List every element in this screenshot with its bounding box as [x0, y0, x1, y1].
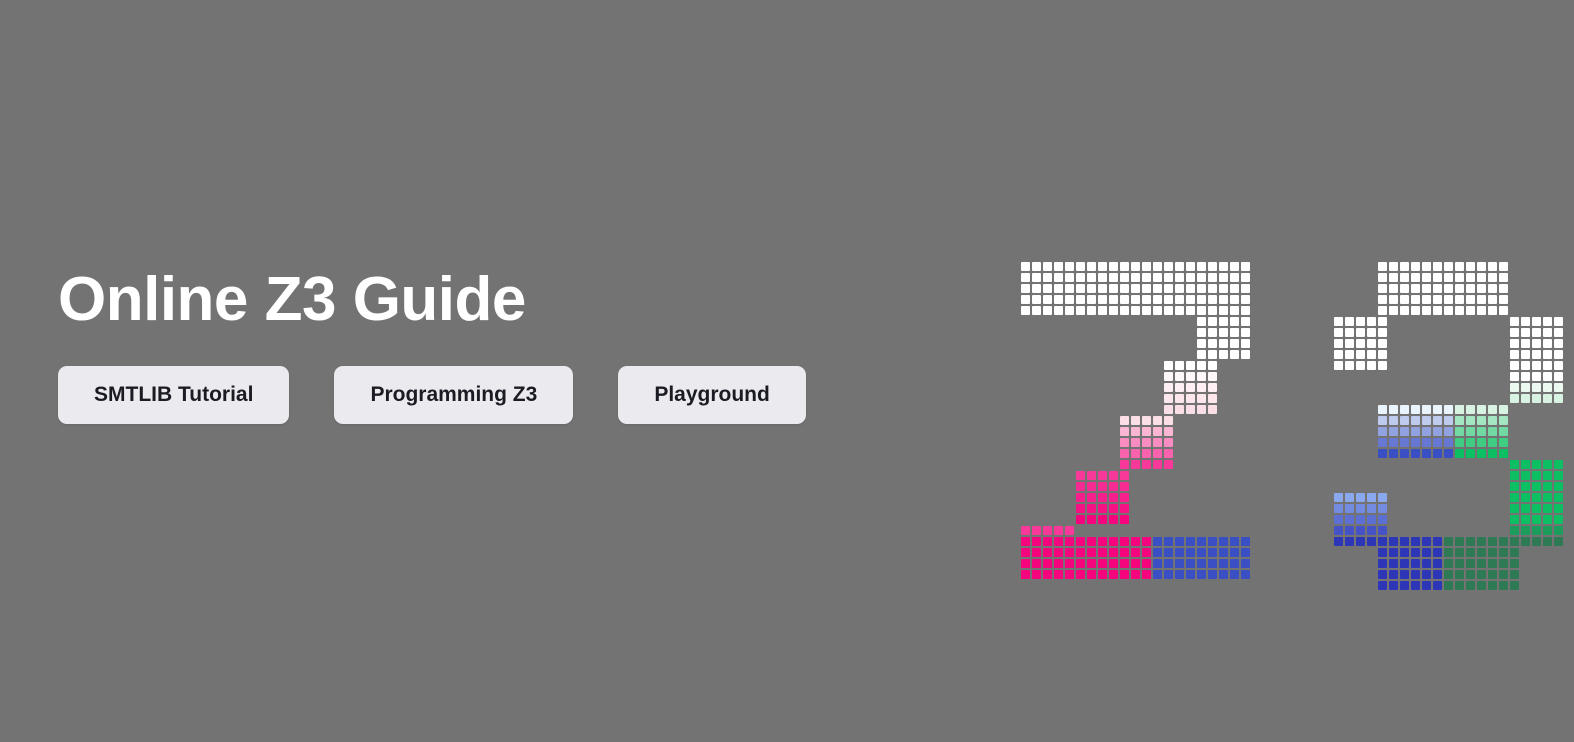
logo-pixel [1422, 581, 1431, 590]
logo-pixel [1087, 482, 1096, 491]
logo-pixel [1367, 526, 1376, 535]
logo-pixel [1241, 570, 1250, 579]
logo-pixel [1065, 559, 1074, 568]
logo-pixel [1131, 427, 1140, 436]
logo-pixel [1345, 537, 1354, 546]
logo-pixel [1208, 372, 1217, 381]
logo-pixel [1153, 559, 1162, 568]
logo-pixel [1532, 350, 1541, 359]
logo-pixel [1032, 537, 1041, 546]
logo-pixel [1543, 383, 1552, 392]
logo-pixel [1499, 570, 1508, 579]
logo-pixel [1378, 306, 1387, 315]
logo-pixel [1219, 570, 1228, 579]
logo-pixel [1230, 350, 1239, 359]
logo-pixel [1087, 515, 1096, 524]
logo-pixel [1230, 570, 1239, 579]
logo-pixel [1466, 306, 1475, 315]
logo-pixel [1477, 416, 1486, 425]
logo-pixel [1109, 570, 1118, 579]
logo-pixel [1433, 295, 1442, 304]
logo-pixel [1131, 559, 1140, 568]
logo-pixel [1032, 526, 1041, 535]
logo-pixel [1142, 570, 1151, 579]
logo-pixel [1510, 526, 1519, 535]
logo-pixel [1510, 559, 1519, 568]
logo-pixel [1142, 438, 1151, 447]
logo-pixel [1378, 581, 1387, 590]
logo-pixel [1087, 262, 1096, 271]
logo-pixel [1499, 427, 1508, 436]
logo-pixel [1378, 350, 1387, 359]
logo-pixel [1219, 262, 1228, 271]
logo-pixel [1422, 449, 1431, 458]
logo-pixel [1455, 427, 1464, 436]
logo-pixel [1109, 273, 1118, 282]
logo-pixel [1098, 482, 1107, 491]
logo-pixel [1345, 350, 1354, 359]
logo-pixel [1521, 361, 1530, 370]
logo-pixel [1164, 559, 1173, 568]
logo-pixel [1378, 559, 1387, 568]
logo-pixel [1499, 548, 1508, 557]
hero-button-row: SMTLIB Tutorial Programming Z3 Playgroun… [58, 366, 806, 424]
logo-pixel [1197, 306, 1206, 315]
logo-pixel [1554, 482, 1563, 491]
logo-pixel [1466, 416, 1475, 425]
logo-pixel [1466, 438, 1475, 447]
logo-pixel [1400, 449, 1409, 458]
logo-pixel [1153, 449, 1162, 458]
logo-pixel [1389, 295, 1398, 304]
logo-pixel [1043, 284, 1052, 293]
logo-pixel [1411, 306, 1420, 315]
logo-pixel [1389, 405, 1398, 414]
logo-pixel [1054, 295, 1063, 304]
logo-pixel [1444, 570, 1453, 579]
logo-pixel [1510, 471, 1519, 480]
logo-pixel [1120, 460, 1129, 469]
logo-pixel [1477, 570, 1486, 579]
logo-pixel [1021, 295, 1030, 304]
logo-pixel [1098, 504, 1107, 513]
logo-pixel [1208, 339, 1217, 348]
logo-pixel [1367, 361, 1376, 370]
logo-pixel [1087, 493, 1096, 502]
logo-pixel [1186, 570, 1195, 579]
logo-pixel [1554, 339, 1563, 348]
logo-pixel [1142, 273, 1151, 282]
three-upper-right-stem [1510, 317, 1563, 403]
logo-pixel [1098, 262, 1107, 271]
logo-pixel [1230, 317, 1239, 326]
logo-pixel [1120, 273, 1129, 282]
logo-pixel [1219, 306, 1228, 315]
logo-pixel [1455, 559, 1464, 568]
logo-pixel [1186, 537, 1195, 546]
logo-pixel [1345, 361, 1354, 370]
logo-pixel [1076, 504, 1085, 513]
logo-pixel [1054, 273, 1063, 282]
three-middle-bar-blue [1378, 405, 1464, 458]
logo-pixel [1400, 306, 1409, 315]
logo-pixel [1378, 284, 1387, 293]
logo-pixel [1400, 427, 1409, 436]
logo-pixel [1164, 537, 1173, 546]
logo-pixel [1521, 383, 1530, 392]
logo-pixel [1532, 361, 1541, 370]
logo-pixel [1488, 438, 1497, 447]
logo-pixel [1400, 570, 1409, 579]
logo-pixel [1175, 548, 1184, 557]
logo-pixel [1521, 394, 1530, 403]
logo-pixel [1389, 537, 1398, 546]
logo-pixel [1076, 262, 1085, 271]
logo-pixel [1521, 471, 1530, 480]
logo-pixel [1219, 273, 1228, 282]
logo-pixel [1175, 405, 1184, 414]
logo-pixel [1521, 339, 1530, 348]
logo-pixel [1334, 350, 1343, 359]
logo-pixel [1197, 372, 1206, 381]
logo-pixel [1433, 438, 1442, 447]
logo-pixel [1400, 537, 1409, 546]
logo-pixel [1433, 416, 1442, 425]
playground-button[interactable]: Playground [618, 366, 806, 424]
logo-pixel [1378, 405, 1387, 414]
logo-pixel [1488, 262, 1497, 271]
logo-pixel [1367, 339, 1376, 348]
logo-pixel [1087, 504, 1096, 513]
logo-pixel [1433, 273, 1442, 282]
logo-pixel [1543, 493, 1552, 502]
logo-pixel [1466, 449, 1475, 458]
programming-z3-button[interactable]: Programming Z3 [334, 366, 573, 424]
logo-pixel [1219, 339, 1228, 348]
logo-pixel [1466, 548, 1475, 557]
logo-pixel [1230, 262, 1239, 271]
logo-pixel [1131, 273, 1140, 282]
logo-pixel [1153, 427, 1162, 436]
logo-pixel [1164, 416, 1173, 425]
logo-pixel [1021, 570, 1030, 579]
logo-pixel [1032, 273, 1041, 282]
logo-pixel [1142, 306, 1151, 315]
logo-pixel [1230, 273, 1239, 282]
logo-pixel [1499, 295, 1508, 304]
logo-pixel [1422, 262, 1431, 271]
logo-pixel [1499, 273, 1508, 282]
logo-pixel [1532, 328, 1541, 337]
logo-pixel [1378, 570, 1387, 579]
logo-pixel [1197, 262, 1206, 271]
logo-pixel [1120, 537, 1129, 546]
logo-pixel [1444, 284, 1453, 293]
logo-pixel [1422, 427, 1431, 436]
logo-pixel [1109, 493, 1118, 502]
logo-pixel [1532, 504, 1541, 513]
three-lower-right-stem [1510, 460, 1563, 546]
logo-pixel [1378, 438, 1387, 447]
logo-pixel [1098, 471, 1107, 480]
logo-pixel [1345, 493, 1354, 502]
logo-pixel [1076, 471, 1085, 480]
logo-pixel [1543, 460, 1552, 469]
logo-pixel [1389, 449, 1398, 458]
logo-pixel [1378, 339, 1387, 348]
logo-pixel [1175, 383, 1184, 392]
logo-pixel [1098, 515, 1107, 524]
logo-pixel [1554, 493, 1563, 502]
logo-pixel [1175, 273, 1184, 282]
logo-pixel [1433, 559, 1442, 568]
logo-pixel [1241, 339, 1250, 348]
logo-pixel [1076, 548, 1085, 557]
logo-pixel [1109, 537, 1118, 546]
logo-pixel [1054, 262, 1063, 271]
logo-pixel [1510, 328, 1519, 337]
logo-pixel [1455, 449, 1464, 458]
logo-pixel [1164, 427, 1173, 436]
logo-pixel [1153, 262, 1162, 271]
logo-pixel [1499, 449, 1508, 458]
logo-pixel [1043, 306, 1052, 315]
logo-pixel [1120, 471, 1129, 480]
logo-pixel [1510, 548, 1519, 557]
logo-pixel [1087, 284, 1096, 293]
logo-pixel [1499, 438, 1508, 447]
logo-pixel [1197, 559, 1206, 568]
logo-pixel [1554, 471, 1563, 480]
logo-pixel [1411, 537, 1420, 546]
logo-pixel [1043, 262, 1052, 271]
logo-pixel [1488, 570, 1497, 579]
logo-pixel [1389, 559, 1398, 568]
logo-pixel [1378, 493, 1387, 502]
logo-pixel [1021, 306, 1030, 315]
logo-pixel [1175, 306, 1184, 315]
logo-pixel [1477, 295, 1486, 304]
logo-pixel [1433, 537, 1442, 546]
logo-pixel [1367, 515, 1376, 524]
logo-pixel [1153, 537, 1162, 546]
logo-pixel [1356, 361, 1365, 370]
logo-pixel [1422, 559, 1431, 568]
logo-pixel [1488, 405, 1497, 414]
logo-pixel [1241, 328, 1250, 337]
logo-pixel [1032, 262, 1041, 271]
logo-pixel [1131, 284, 1140, 293]
logo-pixel [1554, 328, 1563, 337]
logo-pixel [1543, 317, 1552, 326]
logo-pixel [1367, 350, 1376, 359]
logo-pixel [1131, 416, 1140, 425]
logo-pixel [1389, 548, 1398, 557]
logo-pixel [1032, 306, 1041, 315]
logo-pixel [1521, 460, 1530, 469]
z-bottom-bar-pink [1021, 537, 1151, 579]
logo-pixel [1389, 416, 1398, 425]
logo-pixel [1219, 328, 1228, 337]
logo-pixel [1499, 306, 1508, 315]
logo-pixel [1164, 548, 1173, 557]
logo-pixel [1109, 295, 1118, 304]
logo-pixel [1142, 548, 1151, 557]
logo-pixel [1345, 339, 1354, 348]
logo-pixel [1175, 394, 1184, 403]
logo-pixel [1422, 273, 1431, 282]
logo-pixel [1510, 339, 1519, 348]
logo-pixel [1554, 515, 1563, 524]
logo-pixel [1164, 306, 1173, 315]
logo-pixel [1065, 306, 1074, 315]
logo-pixel [1230, 284, 1239, 293]
logo-pixel [1488, 273, 1497, 282]
logo-pixel [1164, 570, 1173, 579]
logo-pixel [1076, 493, 1085, 502]
logo-pixel [1076, 295, 1085, 304]
logo-pixel [1543, 361, 1552, 370]
logo-pixel [1197, 405, 1206, 414]
logo-pixel [1455, 581, 1464, 590]
logo-pixel [1197, 328, 1206, 337]
logo-pixel [1400, 438, 1409, 447]
logo-pixel [1032, 570, 1041, 579]
logo-pixel [1131, 262, 1140, 271]
logo-pixel [1433, 262, 1442, 271]
logo-pixel [1109, 284, 1118, 293]
logo-pixel [1378, 537, 1387, 546]
logo-pixel [1532, 339, 1541, 348]
logo-pixel [1076, 515, 1085, 524]
logo-pixel [1488, 306, 1497, 315]
logo-pixel [1087, 537, 1096, 546]
logo-pixel [1477, 449, 1486, 458]
logo-pixel [1532, 460, 1541, 469]
logo-pixel [1087, 306, 1096, 315]
logo-pixel [1532, 493, 1541, 502]
logo-pixel [1378, 416, 1387, 425]
logo-pixel [1230, 306, 1239, 315]
logo-pixel [1521, 526, 1530, 535]
logo-pixel [1241, 537, 1250, 546]
logo-pixel [1400, 581, 1409, 590]
logo-pixel [1455, 537, 1464, 546]
logo-pixel [1488, 295, 1497, 304]
logo-pixel [1510, 383, 1519, 392]
logo-pixel [1444, 438, 1453, 447]
logo-pixel [1054, 548, 1063, 557]
logo-pixel [1131, 438, 1140, 447]
logo-pixel [1043, 559, 1052, 568]
logo-pixel [1477, 548, 1486, 557]
logo-pixel [1455, 295, 1464, 304]
logo-pixel [1433, 449, 1442, 458]
logo-pixel [1378, 526, 1387, 535]
logo-pixel [1444, 306, 1453, 315]
logo-pixel [1197, 295, 1206, 304]
logo-pixel [1186, 361, 1195, 370]
logo-pixel [1510, 570, 1519, 579]
logo-pixel [1087, 273, 1096, 282]
logo-pixel [1444, 416, 1453, 425]
logo-pixel [1076, 570, 1085, 579]
logo-pixel [1175, 570, 1184, 579]
logo-pixel [1120, 570, 1129, 579]
logo-pixel [1543, 372, 1552, 381]
logo-pixel [1477, 438, 1486, 447]
logo-pixel [1219, 284, 1228, 293]
logo-pixel [1356, 526, 1365, 535]
logo-pixel [1411, 449, 1420, 458]
logo-pixel [1543, 537, 1552, 546]
logo-pixel [1477, 427, 1486, 436]
three-bottom-bar-blue [1378, 537, 1442, 590]
logo-pixel [1510, 581, 1519, 590]
z-top-right-stem [1197, 317, 1250, 359]
logo-pixel [1411, 416, 1420, 425]
logo-pixel [1378, 449, 1387, 458]
logo-pixel [1554, 317, 1563, 326]
logo-pixel [1400, 284, 1409, 293]
logo-pixel [1120, 515, 1129, 524]
logo-pixel [1131, 306, 1140, 315]
logo-pixel [1378, 361, 1387, 370]
logo-pixel [1032, 284, 1041, 293]
logo-pixel [1532, 317, 1541, 326]
logo-pixel [1197, 317, 1206, 326]
logo-pixel [1389, 581, 1398, 590]
logo-pixel [1120, 504, 1129, 513]
logo-pixel [1175, 361, 1184, 370]
logo-pixel [1389, 262, 1398, 271]
logo-pixel [1466, 284, 1475, 293]
logo-pixel [1455, 306, 1464, 315]
logo-pixel [1422, 438, 1431, 447]
logo-pixel [1334, 339, 1343, 348]
logo-pixel [1175, 537, 1184, 546]
logo-pixel [1422, 537, 1431, 546]
logo-pixel [1400, 559, 1409, 568]
logo-pixel [1510, 372, 1519, 381]
logo-pixel [1378, 427, 1387, 436]
logo-pixel [1411, 559, 1420, 568]
logo-pixel [1367, 504, 1376, 513]
logo-pixel [1389, 427, 1398, 436]
logo-pixel [1208, 284, 1217, 293]
logo-pixel [1477, 306, 1486, 315]
logo-pixel [1400, 262, 1409, 271]
logo-pixel [1433, 570, 1442, 579]
logo-pixel [1521, 317, 1530, 326]
smtlib-tutorial-button[interactable]: SMTLIB Tutorial [58, 366, 289, 424]
logo-pixel [1499, 581, 1508, 590]
logo-pixel [1455, 284, 1464, 293]
logo-pixel [1455, 405, 1464, 414]
logo-pixel [1230, 328, 1239, 337]
z-diagonal-step-3 [1076, 471, 1129, 524]
logo-pixel [1120, 295, 1129, 304]
logo-pixel [1477, 405, 1486, 414]
logo-pixel [1411, 284, 1420, 293]
logo-pixel [1356, 350, 1365, 359]
logo-pixel [1411, 548, 1420, 557]
logo-pixel [1444, 559, 1453, 568]
logo-pixel [1098, 537, 1107, 546]
logo-pixel [1400, 416, 1409, 425]
logo-pixel [1477, 559, 1486, 568]
logo-pixel [1186, 383, 1195, 392]
